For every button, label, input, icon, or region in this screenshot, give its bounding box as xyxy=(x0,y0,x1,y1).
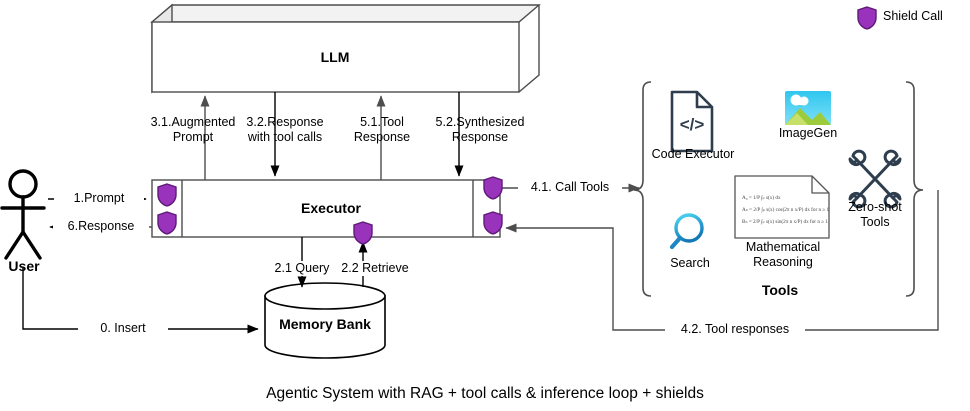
shield-icon-executor-in-top xyxy=(157,183,177,207)
edge-label-tool-responses: 4.2. Tool responses xyxy=(665,322,805,337)
diagram-vector-layer: </> A₀ = 1/P ∫ₚ s(x) dx Aₙ = 2/P ∫ₚ s(x)… xyxy=(0,0,970,411)
formula-document-icon: A₀ = 1/P ∫ₚ s(x) dx Aₙ = 2/P ∫ₚ s(x) cos… xyxy=(735,176,830,238)
tool-label-code-executor: Code Executor xyxy=(647,147,739,162)
executor-label: Executor xyxy=(291,200,371,217)
shield-icon-executor-out-top xyxy=(483,176,503,200)
user-actor[interactable] xyxy=(2,171,44,258)
llm-label: LLM xyxy=(300,49,370,66)
tool-label-search: Search xyxy=(660,256,720,271)
magnifier-icon xyxy=(672,215,702,247)
user-label: User xyxy=(0,258,48,275)
shield-icon-legend xyxy=(857,6,877,30)
edge-label-call-tools: 4.1. Call Tools xyxy=(518,180,622,195)
svg-text:Aₙ = 2/P ∫ₚ s(x) cos(2π n x/P): Aₙ = 2/P ∫ₚ s(x) cos(2π n x/P) dx for n … xyxy=(742,206,830,213)
edge-label-synthesized-response: 5.2.Synthesized Response xyxy=(425,115,535,146)
edge-label-tool-response: 5.1.Tool Response xyxy=(337,115,427,146)
edge-label-insert: 0. Insert xyxy=(78,321,168,336)
shield-icon-executor-memory xyxy=(353,221,373,245)
tool-label-zero-shot-tools: Zero-shot Tools xyxy=(838,200,912,231)
edge-label-retrieve: 2.2 Retrieve xyxy=(330,261,420,276)
tool-label-imagegen: ImageGen xyxy=(768,126,848,141)
tools-group-label: Tools xyxy=(740,282,820,299)
legend-label: Shield Call xyxy=(883,9,970,24)
edge-label-augmented-prompt: 3.1.Augmented Prompt xyxy=(141,115,245,146)
svg-text:</>: </> xyxy=(680,115,705,134)
memory-bank-label: Memory Bank xyxy=(265,316,385,333)
edge-label-response: 6.Response xyxy=(53,219,149,234)
edge-label-response-tool-calls: 3.2.Response with tool calls xyxy=(233,115,337,146)
crossed-wrenches-icon xyxy=(850,151,900,207)
diagram-caption: Agentic System with RAG + tool calls & i… xyxy=(0,385,970,403)
svg-text:Bₙ = 2/P ∫ₚ s(x) sin(2π n x/P): Bₙ = 2/P ∫ₚ s(x) sin(2π n x/P) dx for n … xyxy=(742,218,828,225)
edge-insert xyxy=(23,268,258,329)
edge-label-prompt: 1.Prompt xyxy=(54,191,144,206)
svg-text:A₀ = 1/P ∫ₚ s(x) dx: A₀ = 1/P ∫ₚ s(x) dx xyxy=(742,194,781,201)
image-icon xyxy=(785,91,831,125)
shield-icon-executor-out-bottom xyxy=(483,211,503,235)
tool-label-mathematical-reasoning: Mathematical Reasoning xyxy=(725,240,841,271)
shield-icon-executor-in-bottom xyxy=(157,211,177,235)
code-document-icon: </> xyxy=(672,92,712,151)
diagram-canvas: </> A₀ = 1/P ∫ₚ s(x) dx Aₙ = 2/P ∫ₚ s(x)… xyxy=(0,0,970,411)
